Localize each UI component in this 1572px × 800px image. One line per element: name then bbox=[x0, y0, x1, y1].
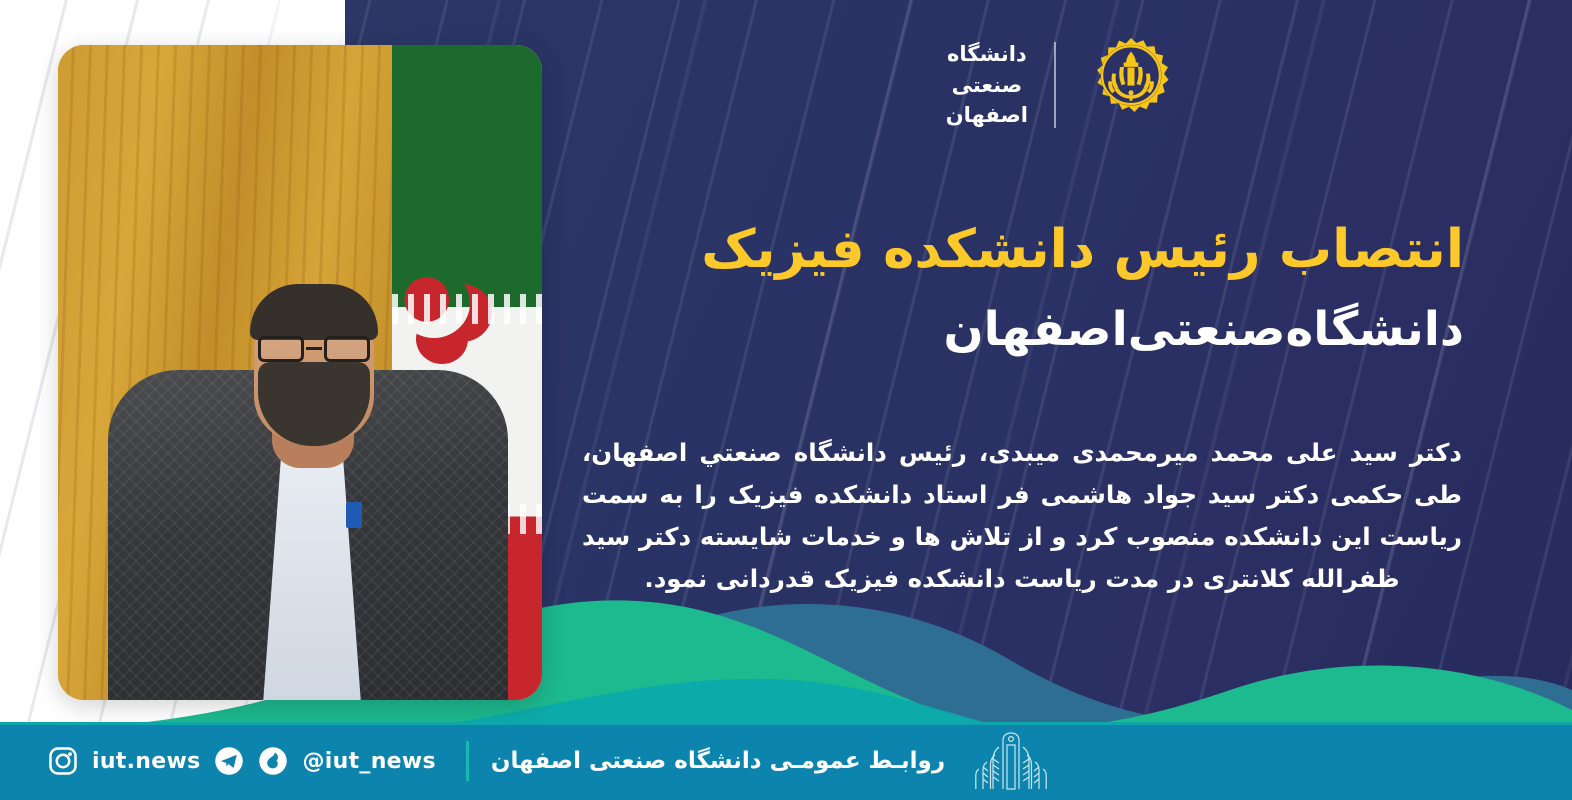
instagram-handle[interactable]: iut.news bbox=[92, 749, 200, 774]
footer-credit: روابـط عمومـی دانشگاه صنعتی اصفهان bbox=[491, 748, 945, 774]
telegram-handle[interactable]: @iut_news bbox=[302, 749, 435, 774]
person-figure bbox=[58, 45, 542, 700]
bale-icon[interactable] bbox=[258, 746, 288, 776]
brand-name-line2: صنعتی bbox=[946, 70, 1028, 100]
page-title: انتصاب رئیس دانشکده فیزیک دانشگاه‌صنعتی‌… bbox=[604, 214, 1464, 364]
body-paragraph-container: دکتر سید علی محمد میرمحمدی میبدی، رئیس د… bbox=[582, 432, 1462, 601]
person-hair bbox=[250, 284, 378, 340]
headline-line-2: دانشگاه‌صنعتی‌اصفهان bbox=[604, 296, 1464, 364]
eyeglasses-icon bbox=[256, 336, 372, 362]
telegram-icon[interactable] bbox=[214, 746, 244, 776]
portrait-photo bbox=[58, 45, 542, 700]
brand-divider bbox=[1054, 42, 1056, 128]
iut-emblem-icon bbox=[1082, 36, 1180, 134]
architectural-ornament-icon bbox=[969, 729, 1053, 793]
brand-lockup: دانشگاه صنعتی اصفهان bbox=[946, 36, 1180, 134]
brand-name-line3: اصفهان bbox=[946, 100, 1028, 130]
brand-name-line1: دانشگاه bbox=[946, 39, 1028, 69]
brand-name: دانشگاه صنعتی اصفهان bbox=[946, 39, 1028, 130]
person-id-badge bbox=[346, 502, 362, 528]
footer-bar: iut.news @iut_news روابـط عمومـی دانشگاه… bbox=[0, 722, 1572, 800]
footer-divider bbox=[466, 741, 469, 781]
poster-canvas: دانشگاه صنعتی اصفهان انتصاب رئیس دانشکده… bbox=[0, 0, 1572, 800]
footer-social-group: iut.news @iut_news bbox=[0, 746, 436, 776]
instagram-icon[interactable] bbox=[48, 746, 78, 776]
footer-top-edge bbox=[0, 722, 1572, 725]
headline-line-1: انتصاب رئیس دانشکده فیزیک bbox=[604, 214, 1464, 286]
body-paragraph: دکتر سید علی محمد میرمحمدی میبدی، رئیس د… bbox=[582, 432, 1462, 601]
